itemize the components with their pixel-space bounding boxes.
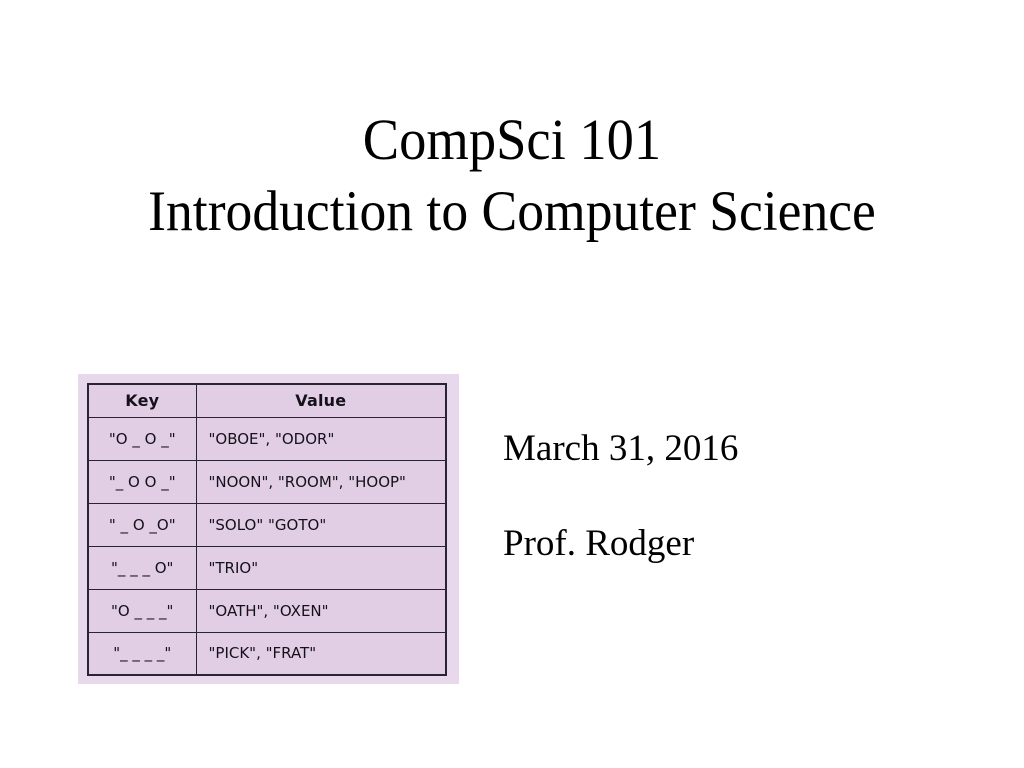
cell-value: "PICK", "FRAT"	[196, 632, 446, 675]
cell-value: "SOLO" "GOTO"	[196, 503, 446, 546]
cell-key: "_ _ _ _"	[88, 632, 196, 675]
table-body: "O _ O _" "OBOE", "ODOR" "_ O O _" "NOON…	[88, 417, 446, 675]
table-row: "O _ _ _" "OATH", "OXEN"	[88, 589, 446, 632]
table-row: "_ _ _ _" "PICK", "FRAT"	[88, 632, 446, 675]
cell-key: "_ _ _ O"	[88, 546, 196, 589]
table-row: " _ O _O" "SOLO" "GOTO"	[88, 503, 446, 546]
title-line-1: CompSci 101	[31, 104, 994, 176]
cell-value: "OATH", "OXEN"	[196, 589, 446, 632]
cell-key: "_ O O _"	[88, 460, 196, 503]
cell-key: "O _ O _"	[88, 417, 196, 460]
cell-value: "OBOE", "ODOR"	[196, 417, 446, 460]
table-header-row: Key Value	[88, 384, 446, 417]
cell-key: " _ O _O"	[88, 503, 196, 546]
presenter-name: Prof. Rodger	[503, 520, 973, 567]
table-row: "O _ O _" "OBOE", "ODOR"	[88, 417, 446, 460]
key-value-table: Key Value "O _ O _" "OBOE", "ODOR" "_ O …	[87, 383, 447, 676]
lecture-date: March 31, 2016	[503, 425, 973, 472]
table-row: "_ _ _ O" "TRIO"	[88, 546, 446, 589]
slide-body-text: March 31, 2016 Prof. Rodger	[503, 425, 973, 567]
page-title: CompSci 101 Introduction to Computer Sci…	[0, 104, 1024, 248]
slide-canvas: CompSci 101 Introduction to Computer Sci…	[0, 0, 1024, 768]
cell-value: "NOON", "ROOM", "HOOP"	[196, 460, 446, 503]
body-spacer	[503, 472, 973, 520]
cell-key: "O _ _ _"	[88, 589, 196, 632]
cell-value: "TRIO"	[196, 546, 446, 589]
column-header-key: Key	[88, 384, 196, 417]
title-line-2: Introduction to Computer Science	[31, 176, 994, 248]
column-header-value: Value	[196, 384, 446, 417]
table-row: "_ O O _" "NOON", "ROOM", "HOOP"	[88, 460, 446, 503]
key-value-table-figure: Key Value "O _ O _" "OBOE", "ODOR" "_ O …	[78, 374, 459, 684]
table-header: Key Value	[88, 384, 446, 417]
